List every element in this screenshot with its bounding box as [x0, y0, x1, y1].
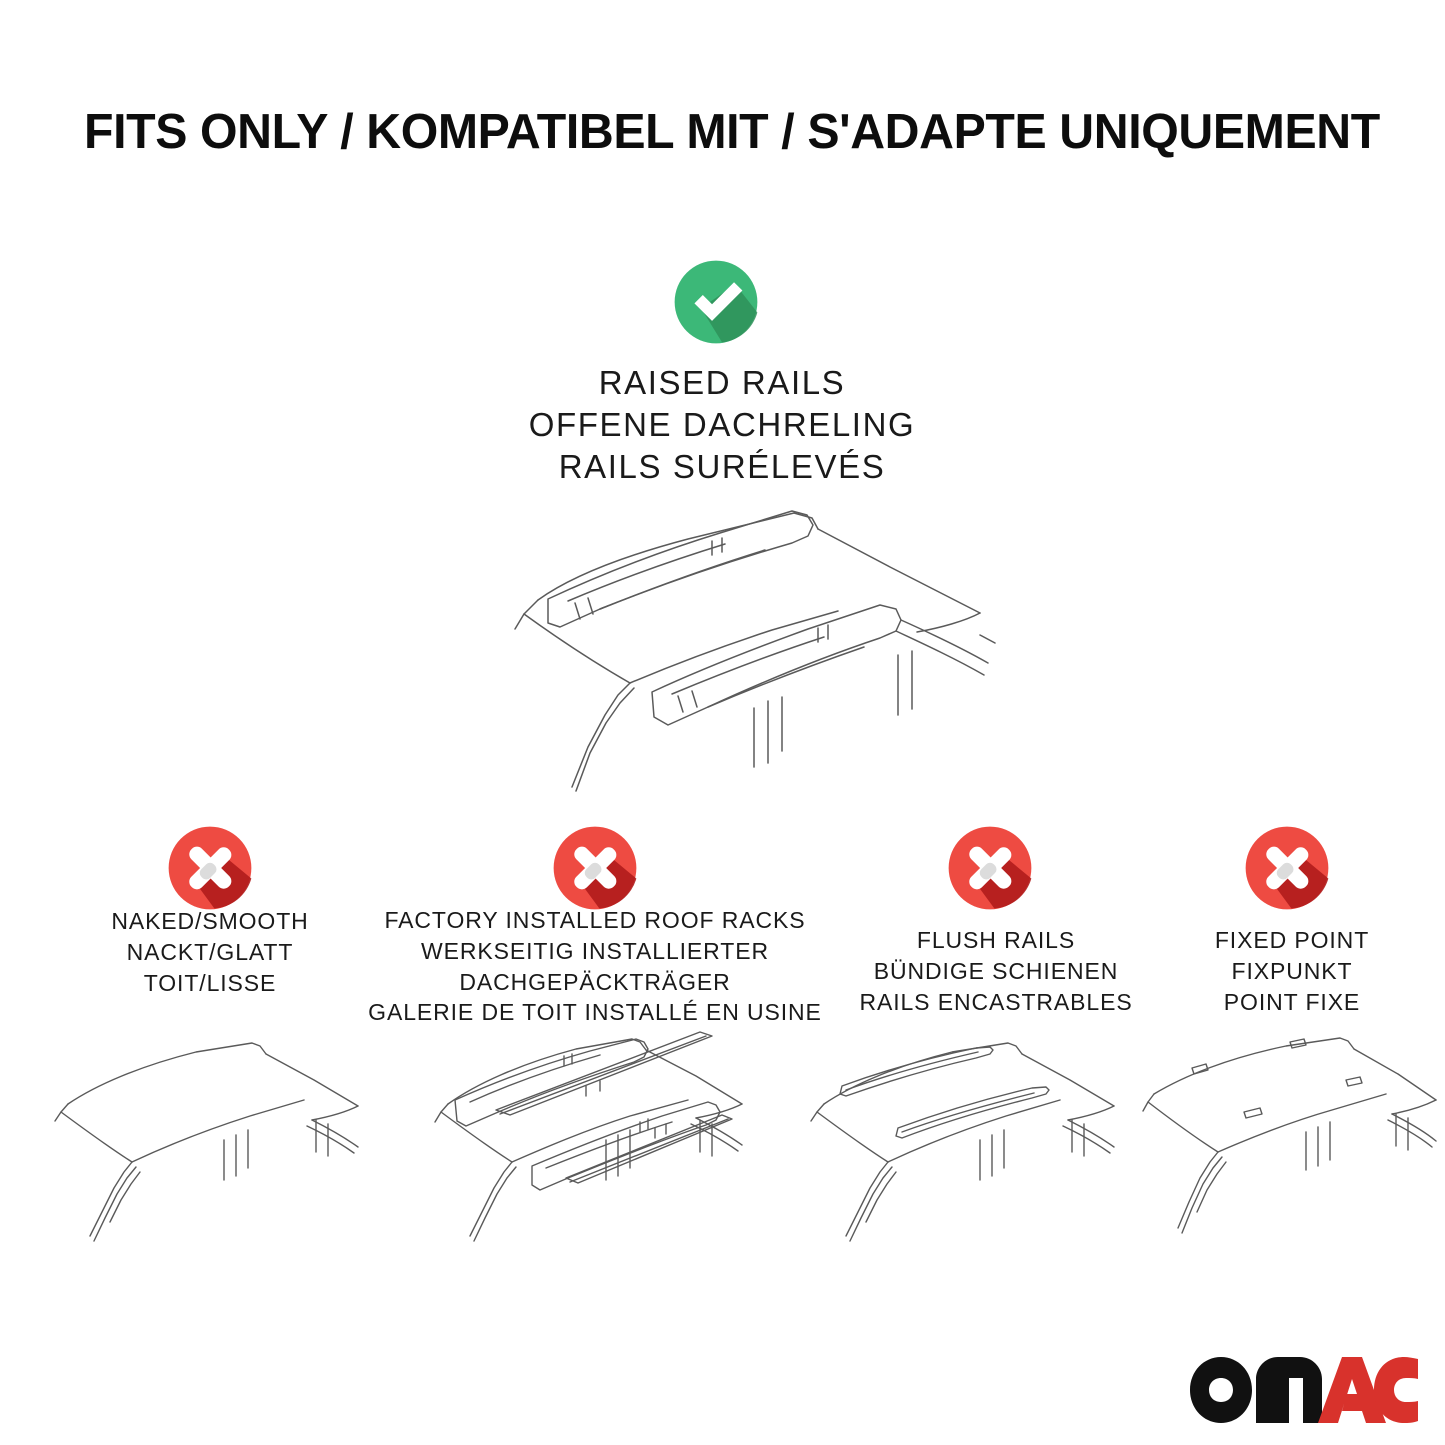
label-naked-smooth-fr: TOIT/LISSE — [45, 968, 375, 999]
label-factory-racks-en: FACTORY INSTALLED ROOF RACKS — [355, 905, 835, 936]
label-naked-smooth-en: NAKED/SMOOTH — [45, 906, 375, 937]
compatible-label-de: OFFENE DACHRELING — [422, 404, 1022, 446]
cross-circle-icon — [946, 824, 1034, 912]
check-circle-icon — [672, 258, 760, 346]
label-fixed-point-en: FIXED POINT — [1162, 925, 1422, 956]
label-fixed-point-de: FIXPUNKT — [1162, 956, 1422, 987]
compatible-label-fr: RAILS SURÉLEVÉS — [422, 446, 1022, 488]
incompatible-caption-fixed-point: FIXED POINT FIXPUNKT POINT FIXE — [1162, 925, 1422, 1017]
incompatible-caption-flush-rails: FLUSH RAILS BÜNDIGE SCHIENEN RAILS ENCAS… — [836, 925, 1156, 1017]
cross-circle-icon — [1243, 824, 1331, 912]
page-title: FITS ONLY / KOMPATIBEL MIT / S'ADAPTE UN… — [84, 107, 1380, 158]
compatible-caption: RAISED RAILS OFFENE DACHRELING RAILS SUR… — [422, 362, 1022, 489]
label-flush-rails-de: BÜNDIGE SCHIENEN — [836, 956, 1156, 987]
car-roof-factory-racks-illustration — [400, 1012, 770, 1250]
incompatible-caption-naked-smooth: NAKED/SMOOTH NACKT/GLATT TOIT/LISSE — [45, 906, 375, 998]
car-roof-fixed-point-illustration — [1140, 1022, 1440, 1250]
car-roof-flush-rails-illustration — [780, 1022, 1140, 1250]
label-factory-racks-de-1: WERKSEITIG INSTALLIERTER — [355, 936, 835, 967]
cross-circle-icon — [551, 824, 639, 912]
label-flush-rails-en: FLUSH RAILS — [836, 925, 1156, 956]
omac-logo — [1190, 1357, 1418, 1423]
label-naked-smooth-de: NACKT/GLATT — [45, 937, 375, 968]
car-roof-raised-rails-illustration — [420, 495, 1020, 795]
compatible-label-en: RAISED RAILS — [422, 362, 1022, 404]
label-flush-rails-fr: RAILS ENCASTRABLES — [836, 987, 1156, 1018]
cross-circle-icon — [166, 824, 254, 912]
label-fixed-point-fr: POINT FIXE — [1162, 987, 1422, 1018]
car-roof-naked-smooth-illustration — [28, 1022, 378, 1250]
incompatible-caption-factory-racks: FACTORY INSTALLED ROOF RACKS WERKSEITIG … — [355, 905, 835, 1028]
label-factory-racks-de-2: DACHGEPÄCKTRÄGER — [355, 967, 835, 998]
